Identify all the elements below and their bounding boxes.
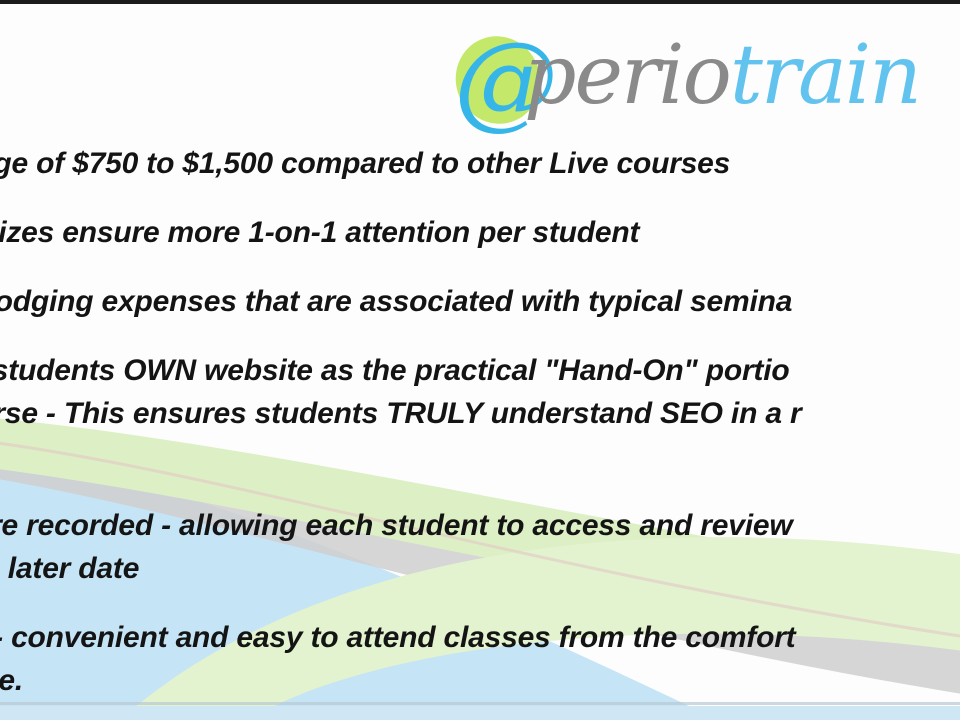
brand-logo: @ periotrain xyxy=(452,16,920,136)
bullet-line: ls at a later date xyxy=(0,547,960,590)
bullet-class-size: lass sizes ensure more 1-on-1 attention … xyxy=(0,211,960,254)
bullet-line: el or lodging expenses that are associat… xyxy=(0,280,960,323)
bullet-line: tion. xyxy=(0,435,960,478)
bullet-line: each students OWN website as the practic… xyxy=(0,349,960,392)
bullet-online-convenience: nline - convenient and easy to attend cl… xyxy=(0,616,960,702)
letterbox-top-bar xyxy=(0,0,960,4)
logo-word-perio: perio xyxy=(524,28,730,123)
logo-wordmark: periotrain xyxy=(524,28,920,124)
bullet-recorded-classes: ses are recorded - allowing each student… xyxy=(0,504,960,590)
bullet-cost-savings: average of $750 to $1,500 compared to ot… xyxy=(0,142,960,185)
bullet-line: nline - convenient and easy to attend cl… xyxy=(0,616,960,659)
video-frame: @ periotrain average of $750 to $1,500 c… xyxy=(0,0,960,720)
bullet-line: r home. xyxy=(0,659,960,702)
bullet-line: e course - This ensures students TRULY u… xyxy=(0,392,960,435)
bullet-no-travel: el or lodging expenses that are associat… xyxy=(0,280,960,323)
bullet-line: ses are recorded - allowing each student… xyxy=(0,504,960,547)
logo-word-train: train xyxy=(730,28,920,123)
bullet-line: average of $750 to $1,500 compared to ot… xyxy=(0,142,960,185)
bullet-hands-on-website: each students OWN website as the practic… xyxy=(0,349,960,478)
bullet-line: lass sizes ensure more 1-on-1 attention … xyxy=(0,211,960,254)
slide-body-copy: average of $750 to $1,500 compared to ot… xyxy=(0,142,960,720)
